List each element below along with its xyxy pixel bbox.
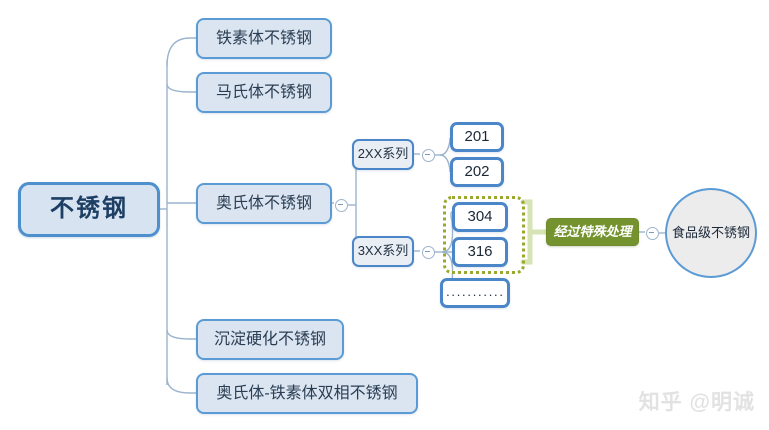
node-series-2xx-label: 2XX系列 <box>358 147 409 161</box>
node-series-2xx[interactable]: 2XX系列 <box>352 139 414 170</box>
node-special-treatment-label: 经过特殊处理 <box>553 225 631 239</box>
node-martensitic[interactable]: 马氏体不锈钢 <box>196 72 332 113</box>
node-austenitic[interactable]: 奥氏体不锈钢 <box>196 183 332 224</box>
edge-2xx-202 <box>440 155 450 172</box>
edge-2xx-201 <box>440 138 450 155</box>
node-special-treatment[interactable]: 经过特殊处理 <box>546 218 639 246</box>
node-series-3xx[interactable]: 3XX系列 <box>352 236 414 267</box>
node-series-3xx-label: 3XX系列 <box>358 244 409 258</box>
node-grade-more[interactable]: ··········· <box>440 278 510 308</box>
node-food-grade-result[interactable]: 食品级不锈钢 <box>665 188 757 278</box>
node-grade-201-label: 201 <box>464 129 489 146</box>
node-ferritic-label: 铁素体不锈钢 <box>216 30 312 48</box>
collapse-marker-3xx[interactable] <box>422 246 435 259</box>
watermark: 知乎 @明诚 <box>639 386 755 416</box>
node-precipitation-hardening-label: 沉淀硬化不锈钢 <box>214 331 326 349</box>
node-root-stainless-steel[interactable]: 不锈钢 <box>18 182 160 237</box>
node-duplex-label: 奥氏体-铁素体双相不锈钢 <box>216 385 397 403</box>
node-grade-304-label: 304 <box>467 209 492 226</box>
mindmap-canvas: 不锈钢 铁素体不锈钢 马氏体不锈钢 奥氏体不锈钢 沉淀硬化不锈钢 奥氏体-铁素体… <box>0 0 769 430</box>
node-grade-more-label: ··········· <box>446 288 505 302</box>
node-grade-202-label: 202 <box>464 164 489 181</box>
node-grade-202[interactable]: 202 <box>450 157 504 187</box>
edge-root-precipitation <box>167 330 196 339</box>
node-austenitic-label: 奥氏体不锈钢 <box>216 195 312 213</box>
node-food-grade-result-label: 食品级不锈钢 <box>672 226 750 240</box>
node-grade-201[interactable]: 201 <box>450 122 504 152</box>
edge-root-ferritic <box>167 38 196 66</box>
node-grade-316-label: 316 <box>467 244 492 261</box>
collapse-marker-treatment[interactable] <box>646 227 659 240</box>
collapse-marker-2xx[interactable] <box>422 149 435 162</box>
edge-root-duplex <box>167 378 196 393</box>
node-precipitation-hardening[interactable]: 沉淀硬化不锈钢 <box>196 319 344 360</box>
node-ferritic[interactable]: 铁素体不锈钢 <box>196 18 332 59</box>
node-martensitic-label: 马氏体不锈钢 <box>216 84 312 102</box>
node-duplex[interactable]: 奥氏体-铁素体双相不锈钢 <box>196 373 418 414</box>
edge-root-martensitic <box>167 84 196 92</box>
node-grade-304[interactable]: 304 <box>452 202 508 232</box>
node-root-label: 不锈钢 <box>50 196 128 222</box>
node-grade-316[interactable]: 316 <box>452 237 508 267</box>
collapse-marker-austenitic[interactable] <box>335 199 348 212</box>
